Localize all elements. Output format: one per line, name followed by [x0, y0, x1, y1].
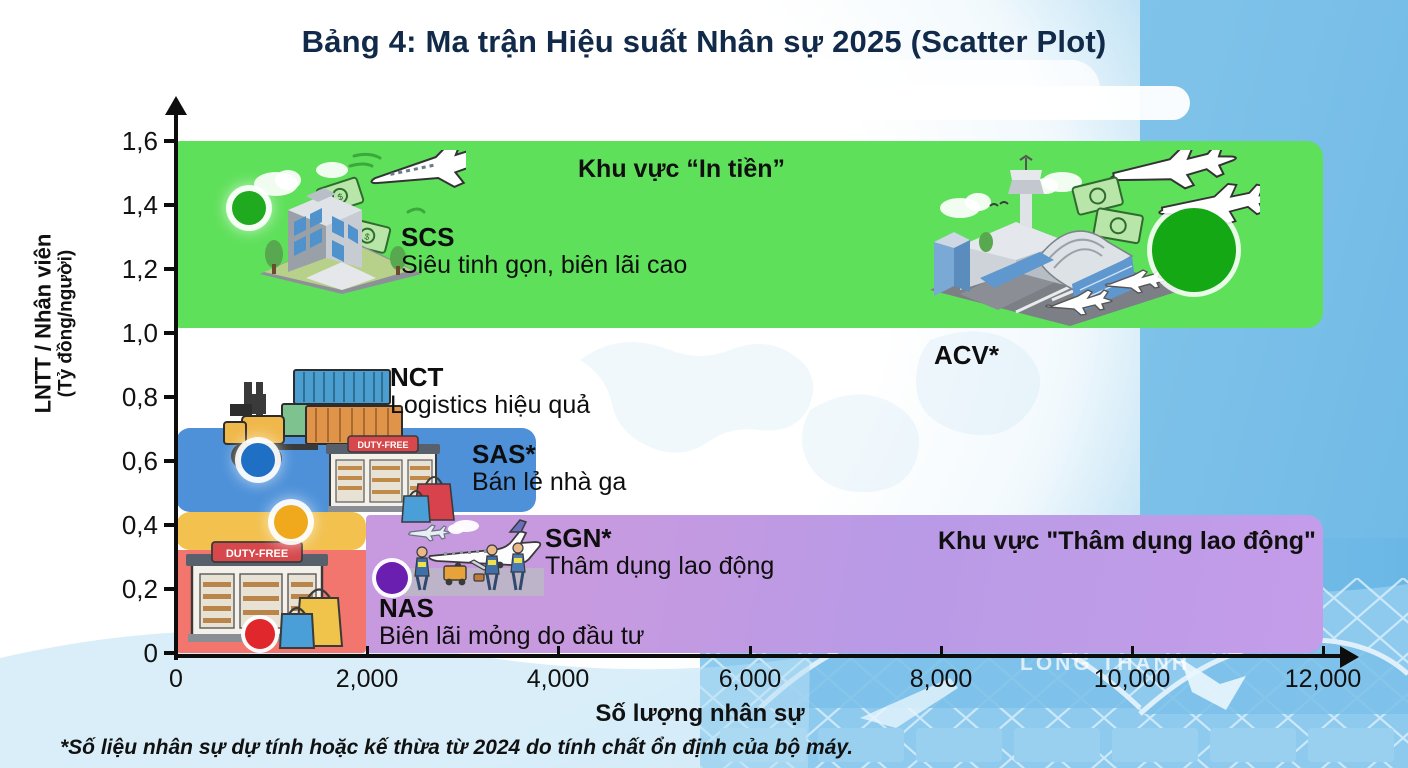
- label-nct: NCT Logistics hiệu quả: [390, 363, 590, 420]
- y-tick-label-08: 0,8: [88, 382, 158, 413]
- zone-label-labor-intensive: Khu vực "Thâm dụng lao động": [938, 527, 1316, 556]
- label-sas-desc: Bán lẻ nhà ga: [472, 468, 626, 497]
- x-tick-label-2000: 2,000: [297, 665, 437, 694]
- label-sas: SAS* Bán lẻ nhà ga: [472, 440, 626, 497]
- x-tick-label-10000: 10,000: [1062, 665, 1202, 694]
- x-tick-label-4000: 4,000: [488, 665, 628, 694]
- page-title: Bảng 4: Ma trận Hiệu suất Nhân sự 2025 (…: [0, 24, 1408, 60]
- x-tick-label-12000: 12,000: [1253, 665, 1393, 694]
- y-tick-10: [164, 331, 178, 335]
- label-acv: ACV*: [934, 341, 999, 369]
- x-tick-10000: [1131, 646, 1134, 658]
- data-point-nas[interactable]: [245, 619, 275, 649]
- data-point-acv[interactable]: [1152, 208, 1236, 292]
- data-point-sas[interactable]: [274, 505, 308, 539]
- label-nas-code: NAS: [379, 594, 645, 622]
- data-point-sgn[interactable]: [376, 562, 408, 594]
- data-point-nct[interactable]: [241, 443, 275, 477]
- label-nct-code: NCT: [390, 363, 590, 391]
- y-tick-02: [164, 587, 178, 591]
- label-sgn-desc: Thâm dụng lao động: [545, 552, 774, 581]
- y-axis-line: [174, 112, 178, 660]
- y-axis-title: LNTT / Nhân viên (Tỷ đồng/người): [30, 174, 77, 474]
- duty-free-store-illustration-upper: DUTY-FREE: [322, 434, 462, 524]
- duty-free-sign-text: DUTY-FREE: [357, 440, 408, 450]
- label-nas: NAS Biên lãi mỏng do đầu tư: [379, 594, 645, 651]
- y-tick-04: [164, 523, 178, 527]
- y-tick-08: [164, 395, 178, 399]
- x-tick-label-0: 0: [106, 665, 246, 694]
- label-nct-desc: Logistics hiệu quả: [390, 391, 590, 420]
- footnote-text: *Số liệu nhân sự dự tính hoặc kế thừa từ…: [60, 736, 853, 760]
- x-axis-line: [174, 654, 1346, 658]
- label-scs-code: SCS: [401, 223, 687, 251]
- x-tick-0: [175, 646, 178, 658]
- y-tick-16: [164, 139, 178, 143]
- x-tick-2000: [366, 646, 369, 658]
- x-tick-label-8000: 8,000: [871, 665, 1011, 694]
- y-tick-label-06: 0,6: [88, 446, 158, 477]
- y-tick-label-02: 0,2: [88, 574, 158, 605]
- x-axis-title: Số lượng nhân sự: [400, 700, 1000, 728]
- y-axis-title-sub: (Tỷ đồng/người): [56, 174, 78, 474]
- y-tick-06: [164, 459, 178, 463]
- x-tick-label-6000: 6,000: [680, 665, 820, 694]
- label-acv-code: ACV*: [934, 341, 999, 369]
- y-tick-label-16: 1,6: [88, 126, 158, 157]
- infographic-canvas: LONG THANH Bảng 4: Ma trận Hiệu suất Nhâ…: [0, 0, 1408, 768]
- y-tick-label-04: 0,4: [88, 510, 158, 541]
- y-tick-14: [164, 203, 178, 207]
- y-axis-title-main: LNTT / Nhân viên: [30, 234, 55, 414]
- x-tick-6000: [749, 646, 752, 658]
- x-tick-12000: [1322, 646, 1325, 658]
- duty-free-sign-text-2: DUTY-FREE: [226, 548, 288, 560]
- label-nas-desc: Biên lãi mỏng do đầu tư: [379, 622, 645, 651]
- y-axis-arrow-icon: [165, 96, 187, 115]
- y-tick-label-10: 1,0: [88, 318, 158, 349]
- x-tick-8000: [940, 646, 943, 658]
- y-tick-label-12: 1,2: [88, 254, 158, 285]
- y-tick-label-14: 1,4: [88, 190, 158, 221]
- label-sgn: SGN* Thâm dụng lao động: [545, 524, 774, 581]
- ground-crew-plane-illustration: [404, 518, 544, 596]
- data-point-scs[interactable]: [232, 191, 266, 225]
- label-scs: SCS Siêu tinh gọn, biên lãi cao: [401, 223, 687, 280]
- zone-label-money-printing: Khu vực “In tiền”: [578, 155, 785, 184]
- label-sgn-code: SGN*: [545, 524, 774, 552]
- label-scs-desc: Siêu tinh gọn, biên lãi cao: [401, 251, 687, 280]
- label-sas-code: SAS*: [472, 440, 626, 468]
- y-tick-12: [164, 267, 178, 271]
